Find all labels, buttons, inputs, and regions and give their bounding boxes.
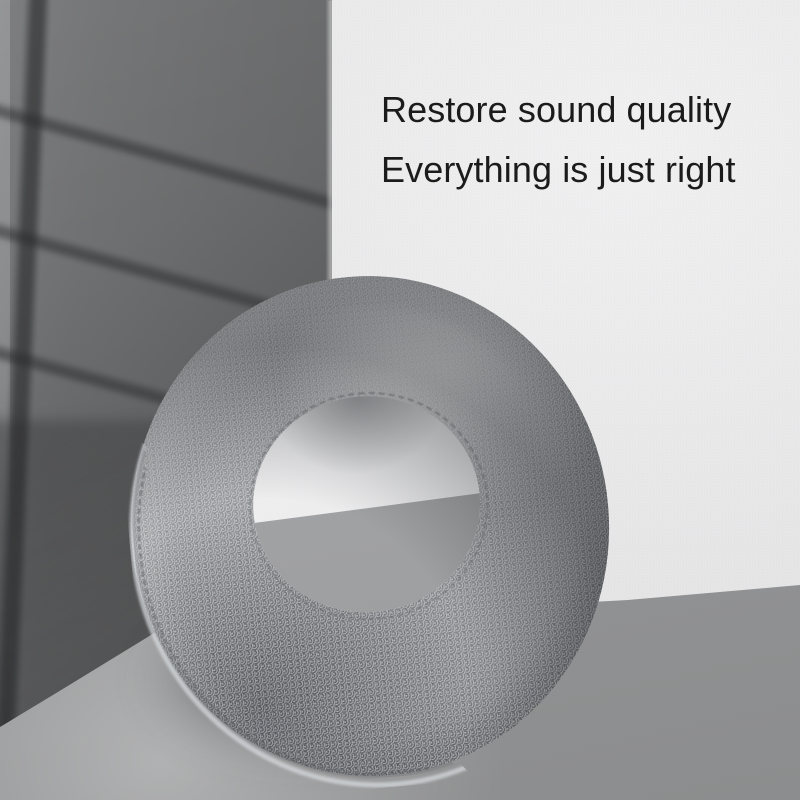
pad-center-opening <box>244 387 489 622</box>
headline-line-1: Restore sound quality <box>381 80 793 140</box>
headline-text: Restore sound quality Everything is just… <box>381 80 793 200</box>
product-photo-scene: Restore sound quality Everything is just… <box>0 0 800 800</box>
ear-pad-cushion <box>110 256 630 796</box>
headline-line-2: Everything is just right <box>381 140 793 200</box>
